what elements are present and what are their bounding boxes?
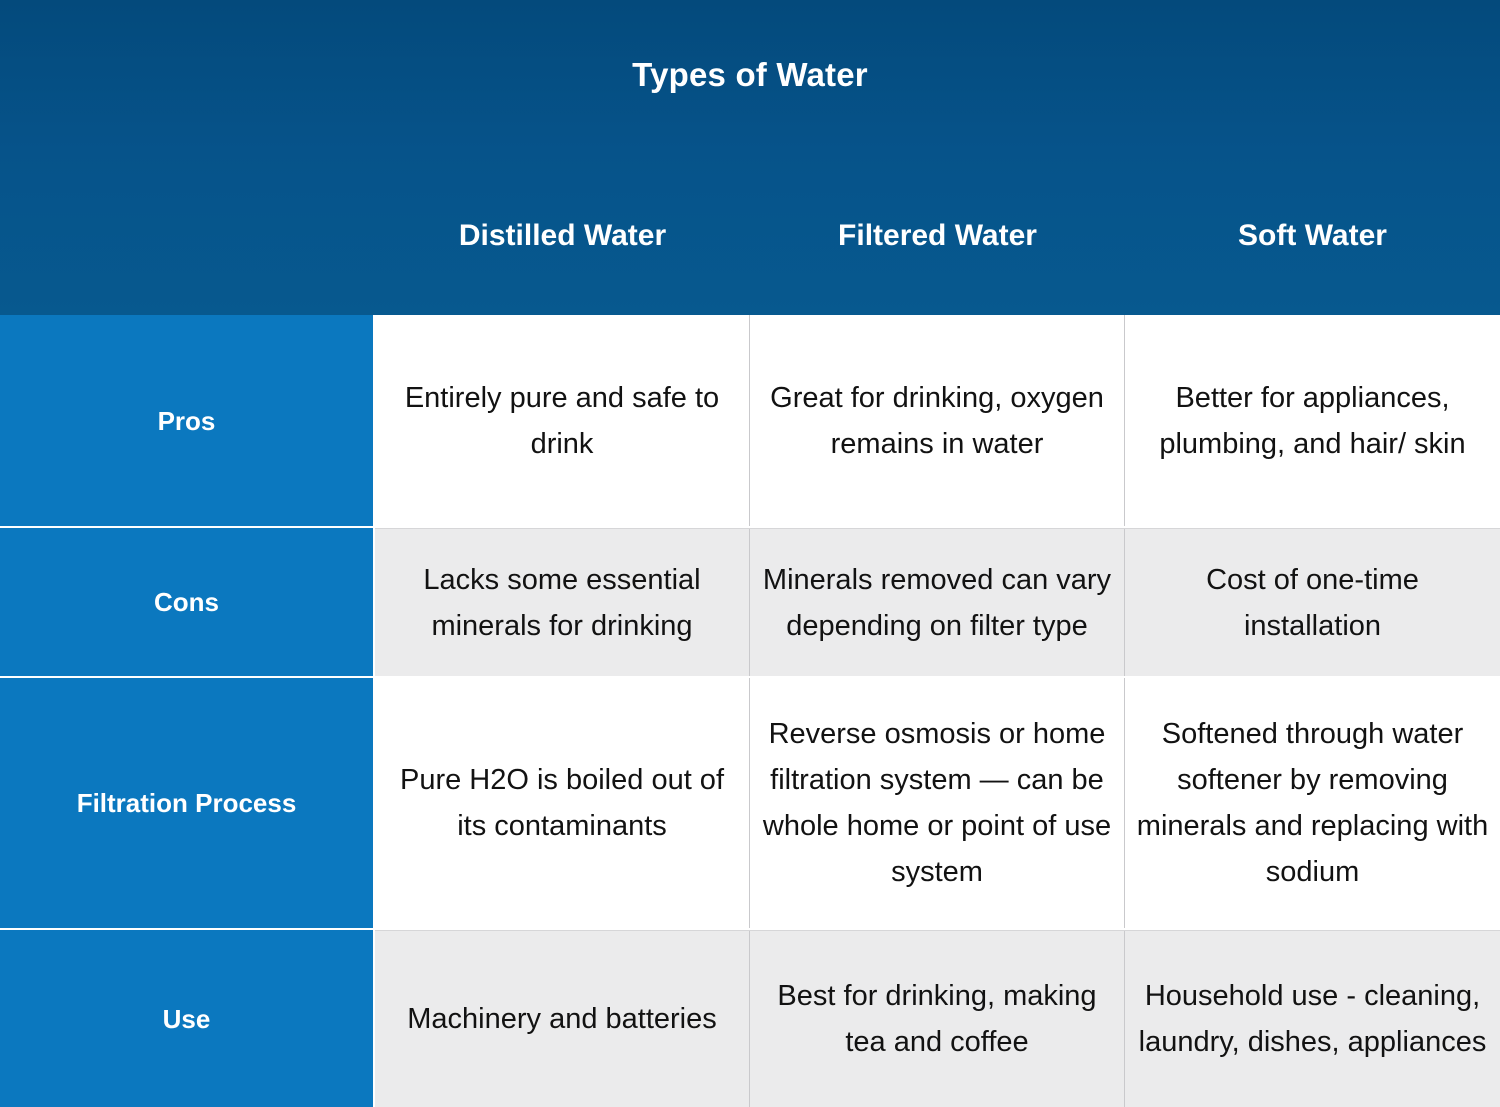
row-label-filtration-process: Filtration Process xyxy=(0,678,375,928)
cell-use-soft-water: Household use - cleaning, laundry, dishe… xyxy=(1125,931,1500,1107)
column-header-filtered-water: Filtered Water xyxy=(750,215,1125,275)
cell-pros-distilled-water: Entirely pure and safe to drink xyxy=(375,315,750,526)
cell-filtration-distilled-water: Pure H2O is boiled out of its contaminan… xyxy=(375,678,750,928)
row-cells: Entirely pure and safe to drink Great fo… xyxy=(375,315,1500,526)
row-cells: Lacks some essential minerals for drinki… xyxy=(375,528,1500,676)
column-header-row: Distilled Water Filtered Water Soft Wate… xyxy=(375,215,1500,275)
table-body: Pros Entirely pure and safe to drink Gre… xyxy=(0,315,1500,1107)
table-row: Use Machinery and batteries Best for dri… xyxy=(0,930,1500,1107)
row-cells: Pure H2O is boiled out of its contaminan… xyxy=(375,678,1500,928)
table-header-band: Types of Water Distilled Water Filtered … xyxy=(0,0,1500,315)
page-title: Types of Water xyxy=(0,56,1500,94)
cell-cons-soft-water: Cost of one-time installation xyxy=(1125,529,1500,676)
column-header-distilled-water: Distilled Water xyxy=(375,215,750,275)
column-header-soft-water: Soft Water xyxy=(1125,215,1500,275)
cell-pros-soft-water: Better for appliances, plumbing, and hai… xyxy=(1125,315,1500,526)
cell-cons-filtered-water: Minerals removed can vary depending on f… xyxy=(750,529,1125,676)
table-row: Filtration Process Pure H2O is boiled ou… xyxy=(0,678,1500,930)
table-row: Pros Entirely pure and safe to drink Gre… xyxy=(0,315,1500,528)
cell-cons-distilled-water: Lacks some essential minerals for drinki… xyxy=(375,529,750,676)
row-cells: Machinery and batteries Best for drinkin… xyxy=(375,930,1500,1107)
cell-filtration-soft-water: Softened through water softener by remov… xyxy=(1125,678,1500,928)
cell-pros-filtered-water: Great for drinking, oxygen remains in wa… xyxy=(750,315,1125,526)
row-label-cons: Cons xyxy=(0,528,375,676)
cell-filtration-filtered-water: Reverse osmosis or home filtration syste… xyxy=(750,678,1125,928)
row-label-use: Use xyxy=(0,930,375,1107)
comparison-table-screen: Types of Water Distilled Water Filtered … xyxy=(0,0,1500,1107)
cell-use-filtered-water: Best for drinking, making tea and coffee xyxy=(750,931,1125,1107)
cell-use-distilled-water: Machinery and batteries xyxy=(375,931,750,1107)
row-label-pros: Pros xyxy=(0,315,375,526)
table-row: Cons Lacks some essential minerals for d… xyxy=(0,528,1500,678)
